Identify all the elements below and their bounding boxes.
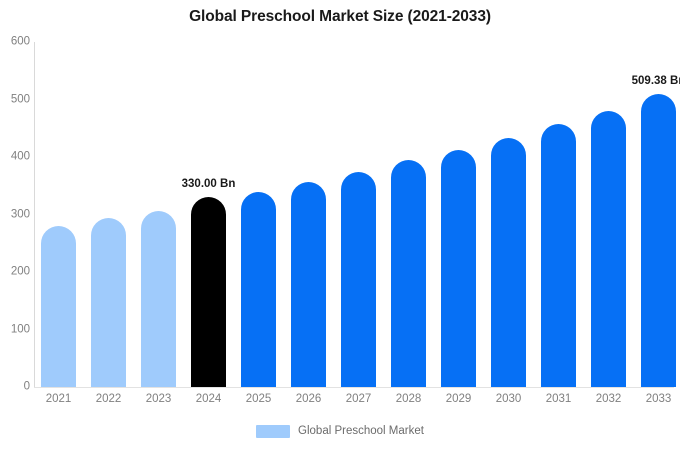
bar-2021[interactable] [41, 226, 76, 387]
bar-2027[interactable] [341, 172, 376, 387]
y-axis-tick-label: 200 [2, 266, 30, 278]
x-axis-tick-label: 2031 [534, 394, 584, 406]
bar-2022[interactable] [91, 218, 126, 387]
legend-item[interactable]: Global Preschool Market [256, 425, 424, 438]
chart-title: Global Preschool Market Size (2021-2033) [0, 8, 680, 26]
y-axis: 0100200300400500600 [0, 0, 30, 450]
bar-2025[interactable] [241, 192, 276, 388]
x-axis-tick-label: 2022 [84, 394, 134, 406]
x-axis-tick-label: 2021 [34, 394, 84, 406]
x-axis-tick-label: 2027 [334, 394, 384, 406]
bar-value-label-2033: 509.38 Bn [604, 76, 680, 88]
y-axis-tick-label: 500 [2, 94, 30, 106]
x-axis-tick-label: 2030 [484, 394, 534, 406]
chart-legend: Global Preschool Market [0, 425, 680, 438]
legend-color-swatch [256, 425, 290, 438]
bar-2023[interactable] [141, 211, 176, 387]
bar-value-label-2024: 330.00 Bn [154, 179, 264, 191]
x-axis-line [34, 387, 674, 388]
x-axis-tick-label: 2029 [434, 394, 484, 406]
y-axis-tick-label: 400 [2, 151, 30, 163]
plot-area [34, 42, 674, 387]
x-axis-tick-label: 2025 [234, 394, 284, 406]
bar-2026[interactable] [291, 182, 326, 387]
x-axis-tick-label: 2026 [284, 394, 334, 406]
x-axis-tick-label: 2023 [134, 394, 184, 406]
x-axis-tick-label: 2033 [634, 394, 680, 406]
chart-container: Global Preschool Market Size (2021-2033)… [0, 0, 680, 450]
bar-2033[interactable] [641, 94, 676, 387]
y-axis-tick-label: 300 [2, 209, 30, 221]
x-axis-tick-label: 2024 [184, 394, 234, 406]
y-axis-tick-label: 0 [2, 381, 30, 393]
bar-2028[interactable] [391, 160, 426, 387]
legend-label: Global Preschool Market [298, 426, 424, 438]
bar-2032[interactable] [591, 111, 626, 387]
bar-2024[interactable] [191, 197, 226, 387]
y-axis-tick-label: 100 [2, 324, 30, 336]
bar-2029[interactable] [441, 150, 476, 387]
x-axis-tick-label: 2032 [584, 394, 634, 406]
bar-2030[interactable] [491, 138, 526, 387]
y-axis-tick-label: 600 [2, 36, 30, 48]
x-axis-tick-label: 2028 [384, 394, 434, 406]
bar-2031[interactable] [541, 124, 576, 387]
